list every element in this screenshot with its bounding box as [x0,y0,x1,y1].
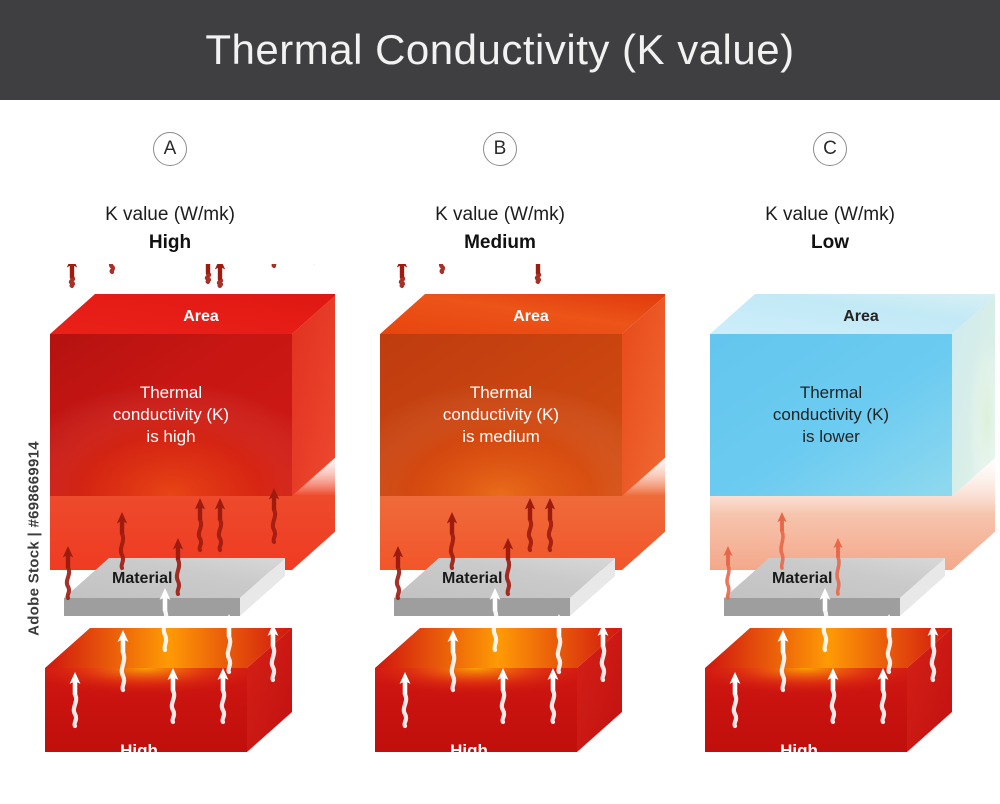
badge-c: C [813,132,847,166]
column-b: B K value (W/mk) Medium AreaThermalcondu… [335,132,665,795]
page-title: Thermal Conductivity (K value) [205,29,794,71]
k-level-c: Low [665,232,995,254]
k-caption-a: K value (W/mk) [5,204,335,226]
k-caption-b: K value (W/mk) [335,204,665,226]
header-bar: Thermal Conductivity (K value) [0,0,1000,100]
diagram-c: AreaThermalconductivity (K)is lowerMater… [665,264,995,794]
diagram-a: AreaThermalconductivity (K)is highMateri… [5,264,335,794]
k-caption-c: K value (W/mk) [665,204,995,226]
badge-a: A [153,132,187,166]
diagram-b: AreaThermalconductivity (K)is mediumMate… [335,264,665,794]
column-a: A K value (W/mk) High AreaThermalconduct… [5,132,335,795]
k-level-b: Medium [335,232,665,254]
column-c: C K value (W/mk) Low AreaThermalconducti… [665,132,995,795]
k-level-a: High [5,232,335,254]
badge-b: B [483,132,517,166]
